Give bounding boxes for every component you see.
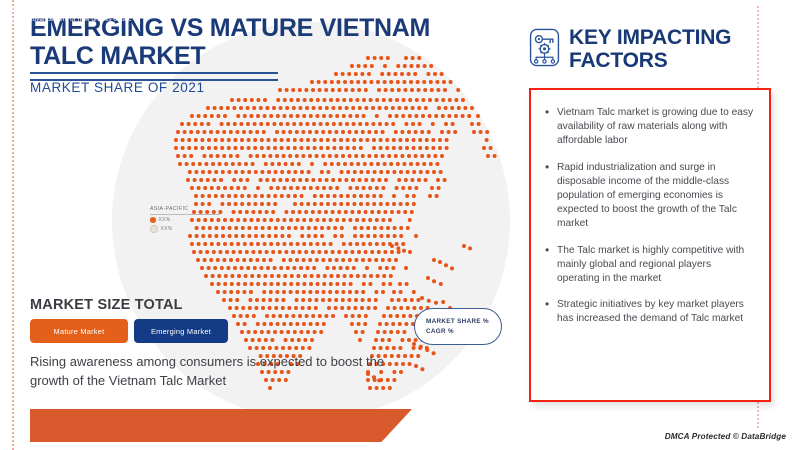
legend-row: XX%	[150, 217, 220, 223]
key-gear-network-icon	[529, 28, 560, 67]
bottom-banner-text: The export of Talc is increasing in Indo…	[8, 5, 338, 24]
chip-mature-market[interactable]: Mature Market	[30, 319, 128, 343]
factor-item: Rapid industrialization and surge in dis…	[557, 161, 755, 232]
factors-list: Vietnam Talc market is growing due to ea…	[531, 90, 769, 327]
market-size-total-heading: MARKET SIZE TOTAL	[30, 297, 183, 313]
left-blurb-text: Rising awareness among consumers is expe…	[30, 352, 410, 390]
badge-line-cagr: CAGR %	[426, 327, 501, 337]
key-impacting-factors-header: KEY IMPACTING FACTORS	[529, 26, 769, 72]
legend-value: XX%	[161, 226, 173, 232]
market-type-chips: Mature Market Emerging Market	[30, 319, 228, 343]
page-subtitle: MARKET SHARE OF 2021	[30, 80, 205, 95]
chip-emerging-market[interactable]: Emerging Market	[134, 319, 228, 343]
key-impacting-factors-card: Vietnam Talc market is growing due to ea…	[529, 88, 771, 402]
legend-value: XX%	[159, 217, 171, 223]
factor-item: Vietnam Talc market is growing due to ea…	[557, 106, 755, 149]
beige-dot-icon	[150, 225, 158, 233]
legend-title: ASIA-PACIFIC	[150, 206, 220, 215]
legend-row: XX%	[150, 225, 220, 233]
map-legend: ASIA-PACIFIC XX% XX%	[150, 206, 220, 233]
factor-item: Strategic initiatives by key market play…	[557, 298, 755, 326]
dmca-footer: DMCA Protected © DataBridge	[665, 432, 786, 441]
infographic-slide: EMERGING VS MATURE VIETNAM TALC MARKET M…	[0, 0, 800, 450]
market-share-cagr-badge: MARKET SHARE % CAGR %	[414, 308, 502, 345]
badge-line-market-share: MARKET SHARE %	[426, 317, 501, 327]
bottom-arrow-banner	[30, 409, 412, 442]
orange-dot-icon	[150, 217, 156, 223]
left-panel: EMERGING VS MATURE VIETNAM TALC MARKET M…	[0, 0, 515, 450]
key-impacting-factors-title: KEY IMPACTING FACTORS	[569, 26, 769, 72]
factor-item: The Talc market is highly competitive wi…	[557, 244, 755, 287]
right-panel: KEY IMPACTING FACTORS Vietnam Talc marke…	[515, 0, 800, 450]
